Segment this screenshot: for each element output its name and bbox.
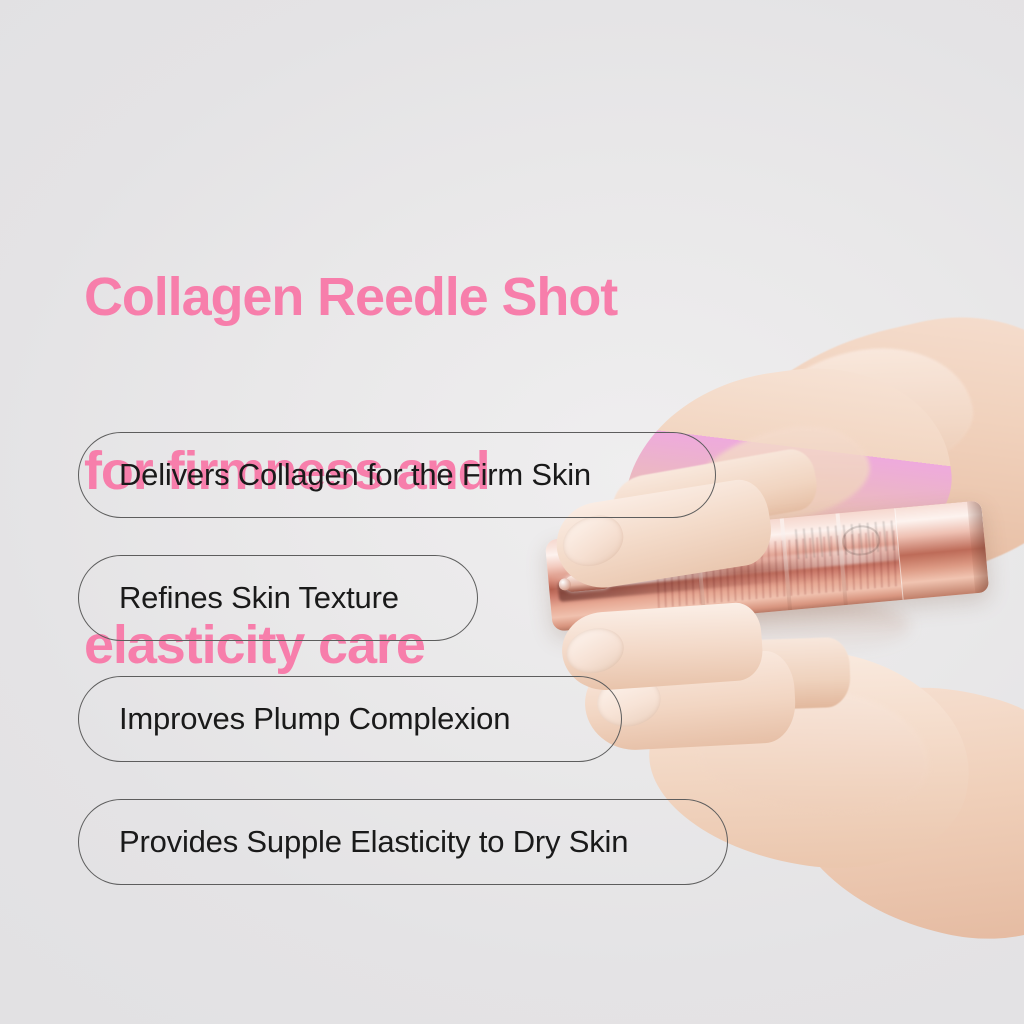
benefit-pill-4[interactable]: Provides Supple Elasticity to Dry Skin xyxy=(78,799,728,885)
benefit-pill-3-label: Improves Plump Complexion xyxy=(119,701,510,737)
benefit-pill-1[interactable]: Delivers Collagen for the Firm Skin xyxy=(78,432,716,518)
benefit-pill-2[interactable]: Refines Skin Texture xyxy=(78,555,478,641)
benefit-list: Delivers Collagen for the Firm Skin Refi… xyxy=(0,0,1024,1024)
benefit-pill-4-label: Provides Supple Elasticity to Dry Skin xyxy=(119,824,628,860)
promo-canvas: Collagen Reedle Shot for firmness and el… xyxy=(0,0,1024,1024)
benefit-pill-2-label: Refines Skin Texture xyxy=(119,580,399,616)
benefit-pill-3[interactable]: Improves Plump Complexion xyxy=(78,676,622,762)
benefit-pill-1-label: Delivers Collagen for the Firm Skin xyxy=(119,457,591,493)
